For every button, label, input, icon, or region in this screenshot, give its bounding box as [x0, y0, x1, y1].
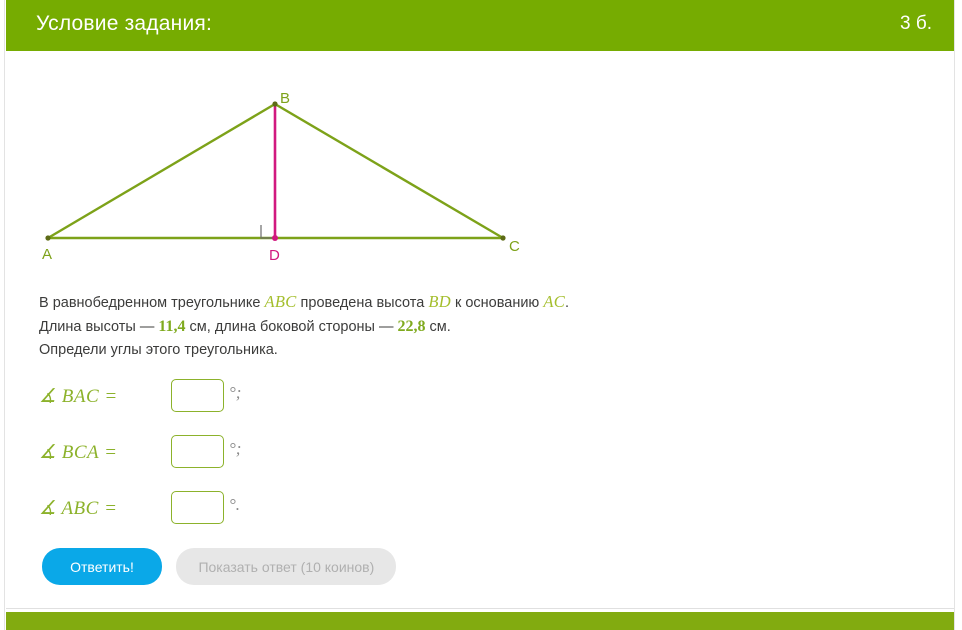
vertex-label-d: D	[269, 247, 280, 264]
answer-suffix-abc: °.	[229, 495, 240, 515]
geometry-figure: A B C D	[6, 55, 566, 280]
page-right-margin	[954, 0, 962, 630]
statement-text-2a: Длина высоты —	[39, 319, 158, 335]
answer-row-abc: ∡ ABC = °.	[39, 487, 439, 543]
answer-label-bca: ∡ BCA =	[39, 441, 117, 464]
footer-bar	[6, 612, 954, 630]
answer-suffix-bac: °;	[229, 383, 241, 403]
statement-text-2c: см.	[426, 319, 451, 335]
answer-input-abc[interactable]	[171, 491, 224, 524]
vertex-dot-c	[500, 235, 505, 240]
answer-row-bca: ∡ BCA = °;	[39, 431, 439, 487]
triangle-svg: A B C D	[6, 55, 566, 280]
segment-ab	[48, 104, 275, 238]
statement-text-1b: проведена высота	[297, 295, 429, 311]
vertex-dot-d	[272, 235, 278, 241]
statement-text-1a: В равнобедренном треугольнике	[39, 295, 264, 311]
answer-label-bac: ∡ BAC =	[39, 385, 118, 408]
statement-line-1: В равнобедренном треугольнике ABC провед…	[39, 290, 919, 315]
statement-value-height: 11,4	[158, 318, 185, 335]
footer-divider	[6, 608, 954, 609]
action-buttons: Ответить! Показать ответ (10 коинов)	[42, 548, 396, 585]
vertex-dot-a	[45, 235, 50, 240]
answer-input-bac[interactable]	[171, 379, 224, 412]
statement-var-abc: ABC	[264, 292, 296, 311]
answer-suffix-bca: °;	[229, 439, 241, 459]
segment-bc	[275, 104, 503, 238]
statement-text-2b: см, длина боковой стороны —	[186, 319, 398, 335]
statement-var-bd: BD	[428, 292, 451, 311]
answer-list: ∡ BAC = °; ∡ BCA = °; ∡ ABC = °.	[39, 375, 439, 543]
answer-row-bac: ∡ BAC = °;	[39, 375, 439, 431]
answer-input-bca[interactable]	[171, 435, 224, 468]
task-header: Условие задания: 3 б.	[6, 0, 954, 51]
statement-value-side: 22,8	[398, 318, 426, 335]
answer-label-abc: ∡ ABC =	[39, 497, 117, 520]
statement-line-2: Длина высоты — 11,4 см, длина боковой ст…	[39, 315, 919, 339]
statement-text-1d: .	[565, 295, 569, 311]
statement-text-1c: к основанию	[451, 295, 543, 311]
show-answer-button[interactable]: Показать ответ (10 коинов)	[176, 548, 396, 585]
exercise-page: Условие задания: 3 б.	[0, 0, 962, 630]
submit-answer-button[interactable]: Ответить!	[42, 548, 162, 585]
page-title: Условие задания:	[36, 12, 212, 36]
points-badge: 3 б.	[900, 13, 932, 35]
vertex-label-b: B	[280, 90, 290, 107]
page-left-margin	[0, 0, 5, 630]
statement-var-ac: AC	[543, 292, 565, 311]
vertex-label-a: A	[42, 246, 52, 263]
vertex-dot-b	[272, 101, 277, 106]
task-statement: В равнобедренном треугольнике ABC провед…	[39, 290, 919, 362]
vertex-label-c: C	[509, 238, 520, 255]
statement-line-3: Определи углы этого треугольника.	[39, 339, 919, 362]
exercise-content: Условие задания: 3 б.	[6, 0, 954, 630]
